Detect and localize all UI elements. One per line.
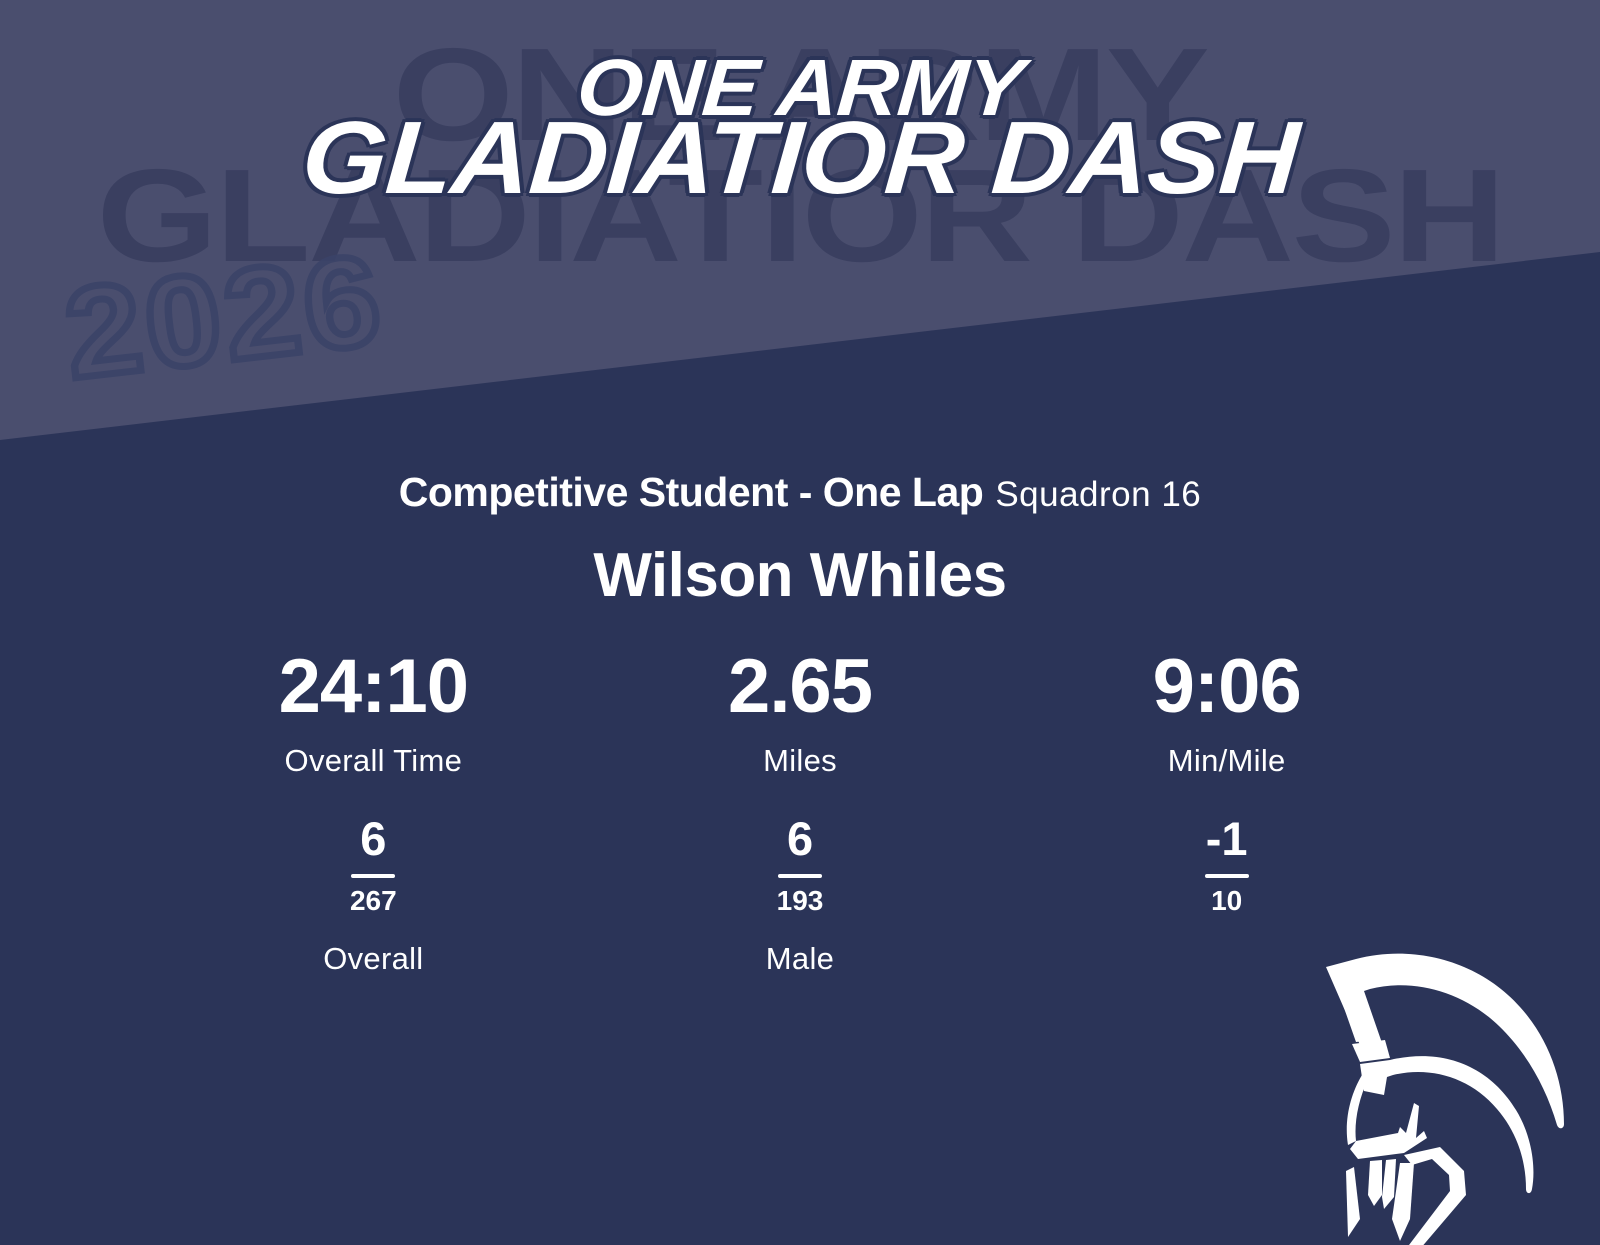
rank-place: 6 bbox=[787, 815, 813, 862]
stat-label: Overall Time bbox=[160, 743, 587, 779]
stat-value: 24:10 bbox=[160, 649, 587, 725]
rank-label: Male bbox=[766, 941, 834, 977]
stat-label: Miles bbox=[587, 743, 1014, 779]
ranks-row: 6 267 Overall 6 193 Male -1 10 bbox=[0, 815, 1600, 977]
fraction-bar bbox=[778, 874, 822, 878]
rank-total: 193 bbox=[777, 887, 824, 915]
race-result-card: ONE ARMY GLADIATIOR DASH ONE ARMY GLADIA… bbox=[0, 0, 1600, 1245]
stat-value: 9:06 bbox=[1013, 649, 1440, 725]
rank-overall: 6 267 Overall bbox=[160, 815, 587, 977]
event-heading: Competitive Student - One LapSquadron 16 bbox=[0, 469, 1600, 516]
event-banner: ONE ARMY GLADIATIOR DASH ONE ARMY GLADIA… bbox=[0, 0, 1600, 445]
fraction-bar bbox=[351, 874, 395, 878]
stat-overall-time: 24:10 Overall Time bbox=[160, 649, 587, 779]
rank-total: 10 bbox=[1211, 887, 1242, 915]
stats-row: 24:10 Overall Time 2.65 Miles 9:06 Min/M… bbox=[0, 649, 1600, 779]
stat-miles: 2.65 Miles bbox=[587, 649, 1014, 779]
stat-label: Min/Mile bbox=[1013, 743, 1440, 779]
rank-place: 6 bbox=[360, 815, 386, 862]
banner-title: ONE ARMY GLADIATIOR DASH bbox=[0, 54, 1600, 202]
squadron-label: Squadron 16 bbox=[995, 475, 1201, 514]
runner-name: Wilson Whiles bbox=[0, 540, 1600, 611]
rank-male: 6 193 Male bbox=[587, 815, 1014, 977]
rank-total: 267 bbox=[350, 887, 397, 915]
fraction-bar bbox=[1205, 874, 1249, 878]
event-category-label: Competitive Student - One Lap bbox=[399, 469, 984, 515]
banner-title-line-2: GLADIATIOR DASH bbox=[0, 115, 1600, 202]
rank-place: -1 bbox=[1206, 815, 1248, 862]
rank-label: Overall bbox=[323, 941, 423, 977]
stat-pace: 9:06 Min/Mile bbox=[1013, 649, 1440, 779]
result-content: Competitive Student - One LapSquadron 16… bbox=[0, 445, 1600, 977]
rank-division: -1 10 bbox=[1013, 815, 1440, 977]
stat-value: 2.65 bbox=[587, 649, 1014, 725]
